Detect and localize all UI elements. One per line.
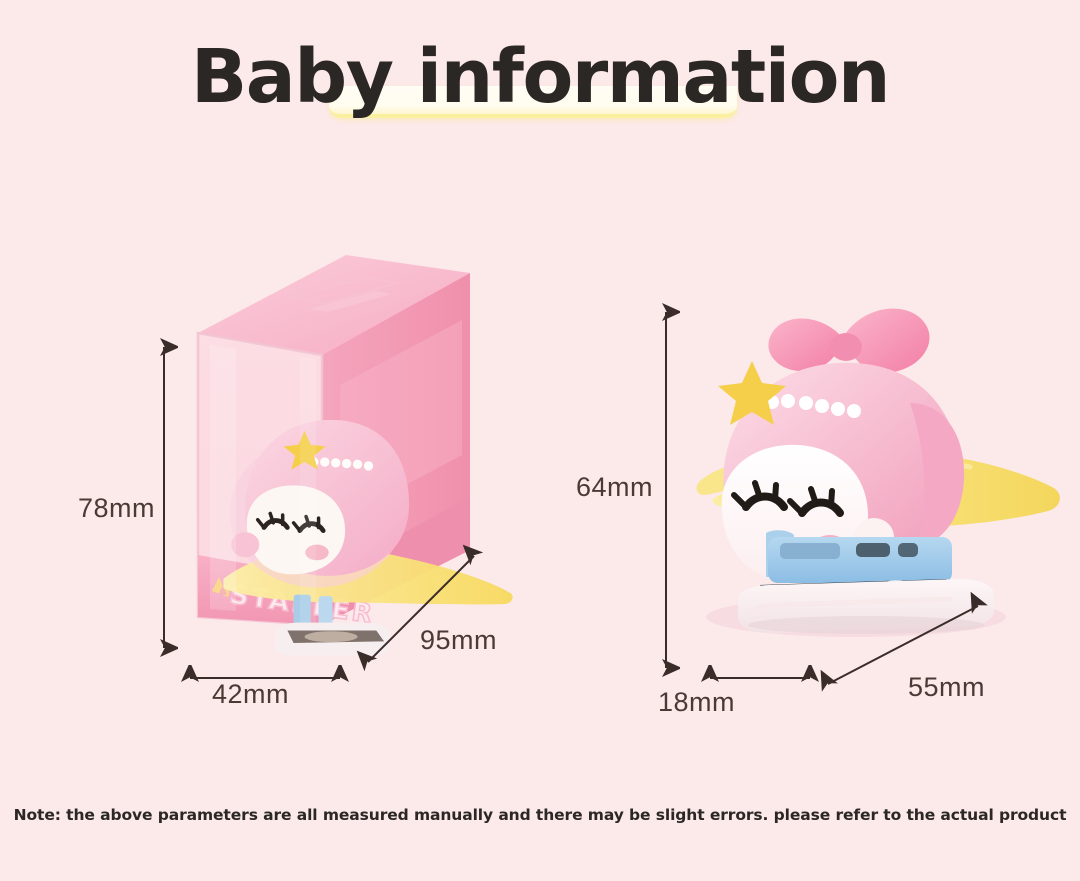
bare-width-label: 18mm <box>658 687 735 718</box>
boxed-depth-dimension-arrow <box>352 540 492 680</box>
boxed-height-label: 78mm <box>78 493 155 524</box>
bare-height-label: 64mm <box>576 472 653 503</box>
infographic-page: Baby information <box>0 0 1080 881</box>
bare-height-dimension-arrow <box>652 300 680 680</box>
bare-depth-label: 55mm <box>908 672 985 703</box>
page-title: Baby information <box>191 34 889 120</box>
boxed-width-label: 42mm <box>212 679 289 710</box>
boxed-depth-label: 95mm <box>420 625 497 656</box>
page-title-block: Baby information <box>0 38 1080 116</box>
footer-note: Note: the above parameters are all measu… <box>0 806 1080 824</box>
